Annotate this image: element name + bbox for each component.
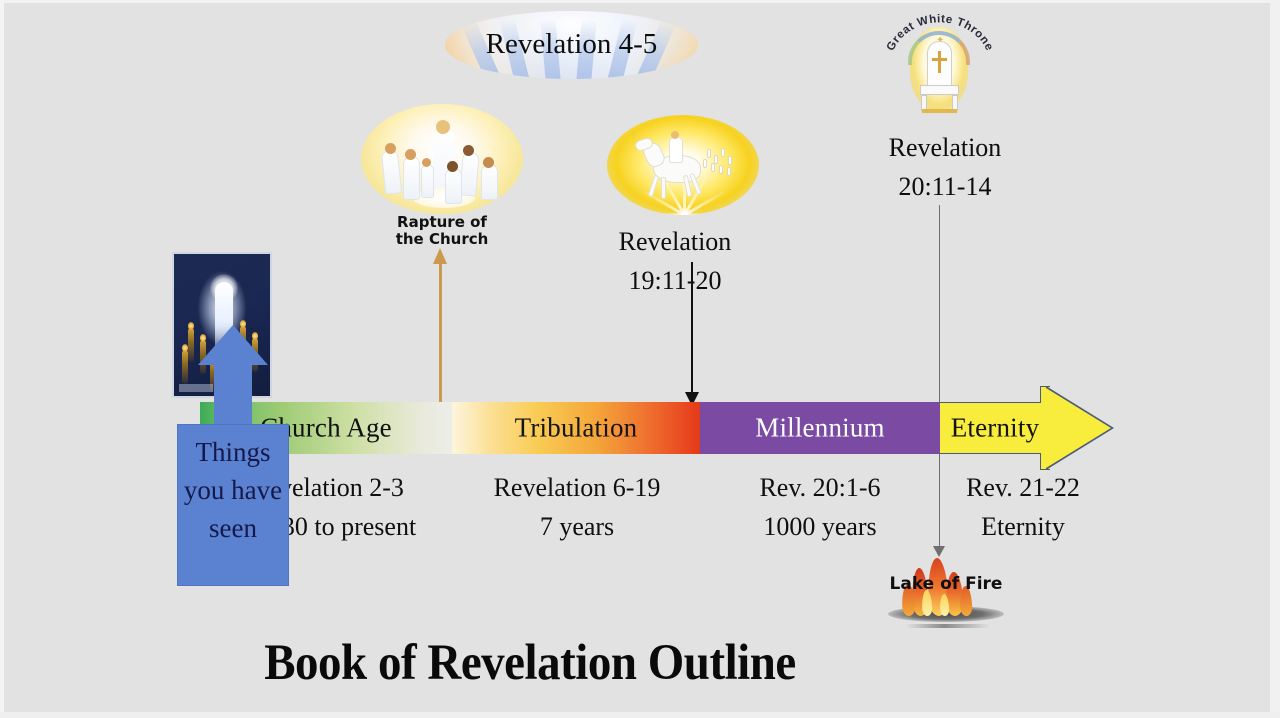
timeline-segment-tribulation[interactable]: Tribulation: [452, 402, 700, 454]
caption-line1: Revelation 6-19: [452, 468, 702, 507]
caption-eternity: Rev. 21-22 Eternity: [938, 468, 1108, 546]
caption-line2: 7 years: [452, 507, 702, 546]
timeline-segment-millennium[interactable]: Millennium: [700, 402, 940, 454]
caption-line1: Rev. 20:1-6: [700, 468, 940, 507]
things-you-have-seen-box[interactable]: Things you have seen: [177, 424, 289, 586]
caption-millennium: Rev. 20:1-6 1000 years: [700, 468, 940, 546]
bottom-letterbox-band: [0, 712, 1280, 718]
image-signature: [179, 384, 213, 392]
timeline-arrowhead: [1046, 388, 1111, 468]
caption-line2: Eternity: [938, 507, 1108, 546]
blue-up-arrow-shaft: [214, 352, 252, 424]
lake-of-fire-flames-image: [878, 558, 1014, 632]
caption-line2: 1000 years: [700, 507, 940, 546]
caption-tribulation: Revelation 6-19 7 years: [452, 468, 702, 546]
lake-of-fire-label: Lake of Fire: [878, 574, 1014, 594]
smoke-streak: [906, 624, 990, 628]
lampstand-icon: [188, 328, 194, 362]
lampstand-icon: [182, 350, 188, 384]
timeline-segment-label: Millennium: [700, 415, 940, 442]
page-title: Book of Revelation Outline: [42, 634, 1017, 692]
revelation-outline-slide: Revelation 4-5 ✦ Great White Throne Reve…: [0, 0, 1280, 718]
timeline-segment-label: Tribulation: [452, 415, 700, 442]
caption-line1: Rev. 21-22: [938, 468, 1108, 507]
timeline-segment-eternity[interactable]: Eternity: [940, 402, 1050, 454]
timeline-segment-label: Eternity: [940, 415, 1050, 442]
